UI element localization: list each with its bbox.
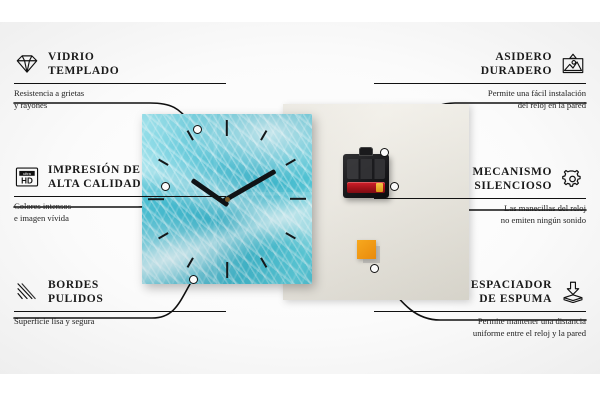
feature-title: VIDRIO TEMPLADO bbox=[48, 50, 119, 79]
feature-espaciador-de-espuma: ESPACIADOR DE ESPUMA Permite mantener un… bbox=[374, 278, 586, 339]
foam-spacer-arrow-icon bbox=[560, 281, 586, 303]
clock-tick bbox=[260, 257, 267, 268]
link-dot-asidero bbox=[380, 148, 389, 157]
feature-description: Colores intensos e imagen vívida bbox=[14, 201, 226, 225]
feature-description: Superficie lisa y segura bbox=[14, 316, 226, 328]
feature-rule bbox=[14, 83, 226, 84]
clock-minute-hand bbox=[222, 169, 276, 203]
polished-edges-icon bbox=[14, 281, 40, 303]
link-dot-espaciador bbox=[370, 264, 379, 273]
ultra-hd-icon: ultra HD bbox=[14, 166, 40, 188]
svg-text:HD: HD bbox=[21, 177, 33, 186]
feature-description: Permite mantener una distancia uniforme … bbox=[374, 316, 586, 340]
clock-tick bbox=[187, 257, 194, 268]
link-dot-vidrio bbox=[193, 125, 202, 134]
movement-shaft bbox=[359, 147, 373, 156]
clock-tick bbox=[285, 159, 296, 166]
clock-tick bbox=[260, 130, 267, 141]
feature-bordes-pulidos: BORDES PULIDOS Superficie lisa y segura bbox=[14, 278, 226, 328]
feature-title: BORDES PULIDOS bbox=[48, 278, 103, 307]
diamond-icon bbox=[14, 53, 40, 75]
feature-impresion-alta-calidad: ultra HD IMPRESIÓN DE ALTA CALIDAD Color… bbox=[14, 163, 226, 224]
feature-rule bbox=[374, 311, 586, 312]
wall-hanging-frame-icon bbox=[560, 53, 586, 75]
svg-text:ultra: ultra bbox=[23, 171, 32, 176]
feature-rule bbox=[374, 83, 586, 84]
feature-mecanismo-silencioso: MECANISMO SILENCIOSO Las manecillas del … bbox=[374, 165, 586, 226]
feature-rule bbox=[14, 196, 226, 197]
feature-description: Resistencia a grietas y rayones bbox=[14, 88, 226, 112]
feature-title: MECANISMO SILENCIOSO bbox=[472, 165, 552, 194]
clock-tick bbox=[285, 232, 296, 239]
feature-description: Permite una fácil instalación del reloj … bbox=[374, 88, 586, 112]
clock-tick bbox=[290, 198, 306, 200]
clock-tick bbox=[158, 232, 169, 239]
foam-spacer-pad bbox=[357, 240, 376, 259]
feature-vidrio-templado: VIDRIO TEMPLADO Resistencia a grietas y … bbox=[14, 50, 226, 111]
clock-tick bbox=[226, 262, 228, 278]
feature-rule bbox=[14, 311, 226, 312]
feature-asidero-duradero: ASIDERO DURADERO Permite una fácil insta… bbox=[374, 50, 586, 111]
feature-description: Las manecillas del reloj no emiten ningú… bbox=[374, 203, 586, 227]
feature-title: IMPRESIÓN DE ALTA CALIDAD bbox=[48, 163, 141, 192]
feature-title: ESPACIADOR DE ESPUMA bbox=[471, 278, 552, 307]
gear-icon bbox=[560, 168, 586, 190]
clock-tick bbox=[226, 120, 228, 136]
feature-rule bbox=[374, 198, 586, 199]
infographic-stage: VIDRIO TEMPLADO Resistencia a grietas y … bbox=[0, 0, 600, 400]
feature-title: ASIDERO DURADERO bbox=[481, 50, 552, 79]
